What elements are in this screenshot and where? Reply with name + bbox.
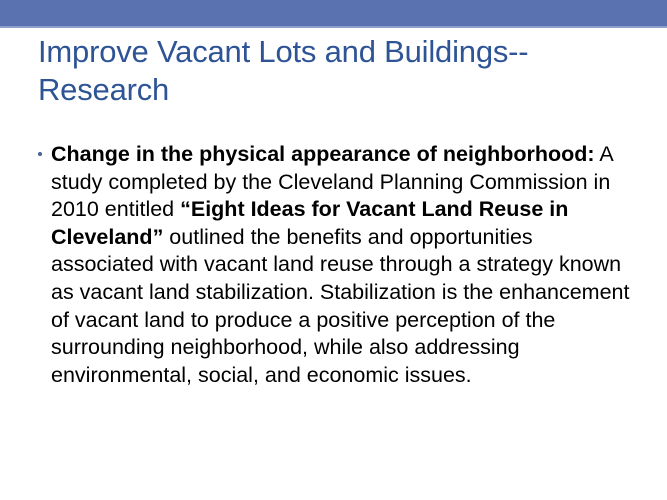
- bullet-dot-icon: [38, 152, 42, 156]
- bullet-paragraph: Change in the physical appearance of nei…: [51, 141, 638, 389]
- slide-title-line-2: Research: [38, 71, 638, 109]
- bullet-item: Change in the physical appearance of nei…: [38, 141, 638, 389]
- slide: Improve Vacant Lots and Buildings-- Rese…: [0, 0, 667, 500]
- slide-body: Change in the physical appearance of nei…: [38, 141, 638, 389]
- bullet-lead-bold: Change in the physical appearance of nei…: [51, 142, 595, 166]
- header-decorative-band: [0, 0, 667, 26]
- bullet-segment-2: outlined the benefits and opportunities …: [51, 225, 629, 387]
- slide-title: Improve Vacant Lots and Buildings-- Rese…: [38, 33, 638, 109]
- header-band-underline: [0, 26, 667, 28]
- slide-title-line-1: Improve Vacant Lots and Buildings--: [38, 33, 638, 71]
